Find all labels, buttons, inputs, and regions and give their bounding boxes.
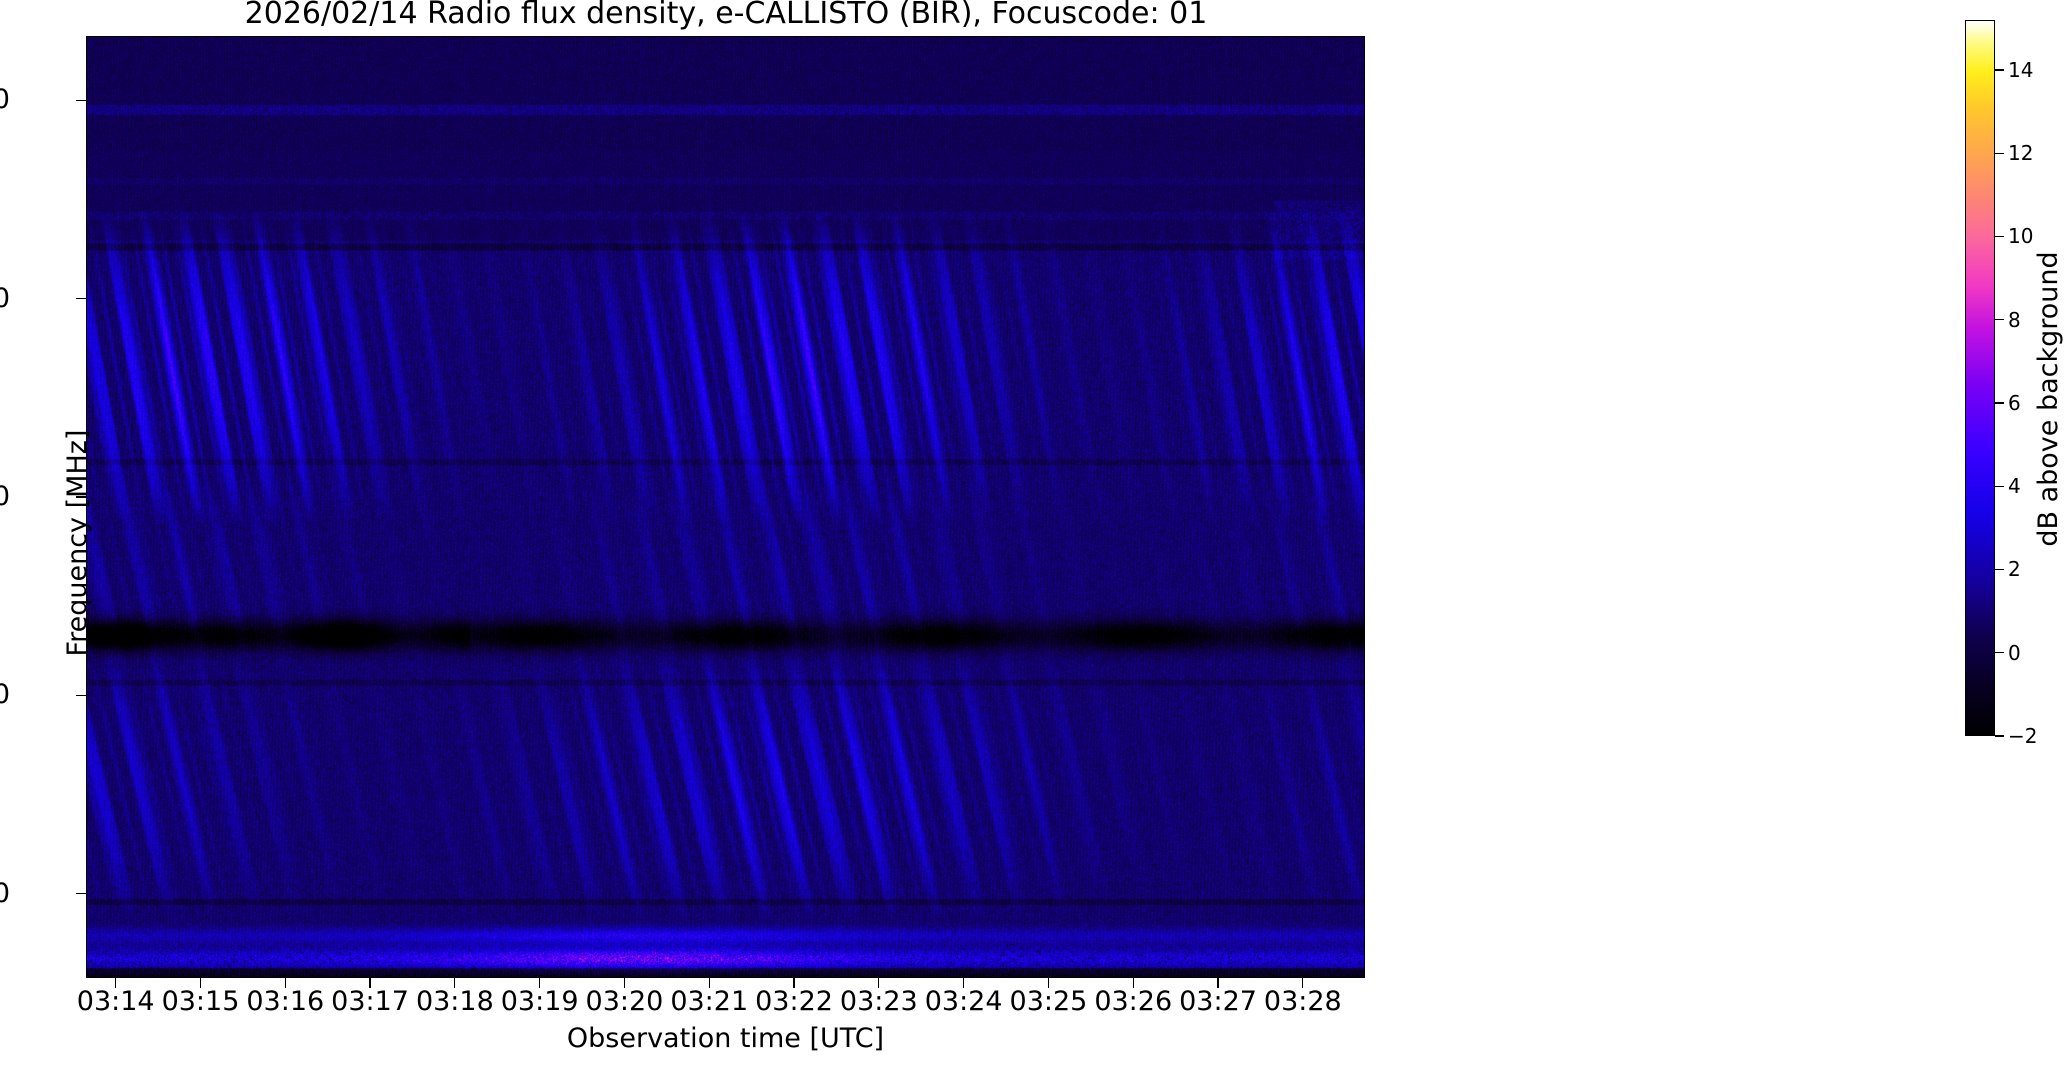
- colorbar-tick-label: 0: [2008, 643, 2066, 663]
- page-title: 2026/02/14 Radio flux density, e-CALLIST…: [0, 0, 1452, 32]
- y-tick-mark: [76, 893, 86, 894]
- colorbar-tick-mark: [1995, 319, 2004, 320]
- colorbar-tick-label: 10: [2008, 226, 2066, 246]
- y-tick-label: 100: [0, 86, 10, 113]
- colorbar-tick-mark: [1995, 153, 2004, 154]
- spectrogram-plot-area: [86, 36, 1365, 978]
- colorbar-tick-label: 14: [2008, 60, 2066, 80]
- colorbar-tick-mark: [1995, 652, 2004, 653]
- y-tick-label: 20: [0, 880, 10, 907]
- y-tick-mark: [76, 695, 86, 696]
- spectrogram-image: [87, 37, 1364, 977]
- y-tick-label: 60: [0, 483, 10, 510]
- x-axis-label: Observation time [UTC]: [86, 1024, 1365, 1054]
- x-tick-label: 03:28: [1213, 988, 1393, 1015]
- colorbar-tick-label: 2: [2008, 559, 2066, 579]
- colorbar: dB above background: [1965, 20, 1995, 736]
- colorbar-tick-mark: [1995, 569, 2004, 570]
- y-tick-label: 80: [0, 285, 10, 312]
- colorbar-tick-label: 4: [2008, 476, 2066, 496]
- y-tick-mark: [76, 298, 86, 299]
- colorbar-tick-label: 12: [2008, 143, 2066, 163]
- y-tick-mark: [76, 100, 86, 101]
- colorbar-tick-mark: [1995, 236, 2004, 237]
- colorbar-tick-mark: [1995, 735, 2004, 736]
- y-axis-label: Frequency [MHz]: [63, 72, 93, 1014]
- colorbar-tick-mark: [1995, 486, 2004, 487]
- colorbar-tick-label: 8: [2008, 310, 2066, 330]
- y-tick-mark: [76, 496, 86, 497]
- colorbar-tick-label: −2: [2008, 726, 2066, 746]
- colorbar-tick-mark: [1995, 69, 2004, 70]
- colorbar-tick-mark: [1995, 402, 2004, 403]
- y-tick-label: 40: [0, 681, 10, 708]
- colorbar-tick-label: 6: [2008, 393, 2066, 413]
